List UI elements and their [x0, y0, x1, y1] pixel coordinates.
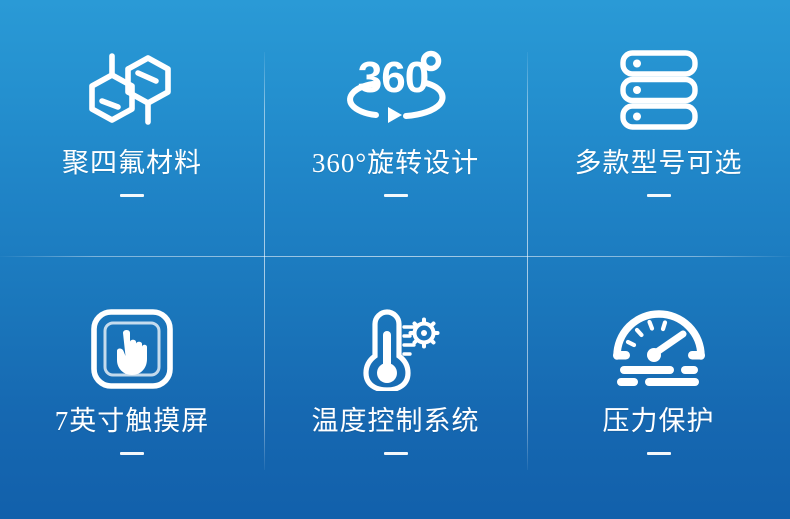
feature-label: 360°旋转设计	[312, 150, 479, 177]
feature-cell-temperature-control[interactable]: 温度控制系统	[264, 256, 527, 519]
360-rotation-icon: 360	[340, 44, 452, 136]
server-rack-icon	[613, 44, 705, 136]
feature-cell-model-options[interactable]: 多款型号可选	[527, 0, 790, 256]
label-underline-dash	[384, 452, 408, 455]
feature-cell-touchscreen[interactable]: 7英寸触摸屏	[0, 256, 264, 519]
label-underline-dash	[120, 194, 144, 197]
feature-label: 温度控制系统	[312, 408, 480, 435]
label-underline-dash	[120, 452, 144, 455]
feature-label: 多款型号可选	[575, 150, 743, 177]
svg-text:360: 360	[357, 53, 427, 102]
feature-label: 7英寸触摸屏	[55, 408, 210, 435]
label-underline-dash	[384, 194, 408, 197]
label-underline-dash	[647, 452, 671, 455]
feature-grid: 聚四氟材料 360 360°旋转设计	[0, 0, 790, 519]
feature-banner: 聚四氟材料 360 360°旋转设计	[0, 0, 790, 519]
feature-cell-ptfe-material[interactable]: 聚四氟材料	[0, 0, 264, 256]
touchscreen-hand-icon	[89, 306, 175, 392]
molecule-hexagons-icon	[80, 44, 184, 136]
feature-cell-pressure-protection[interactable]: 压力保护	[527, 256, 790, 519]
feature-cell-rotation-design[interactable]: 360 360°旋转设计	[264, 0, 527, 256]
pressure-gauge-icon	[609, 306, 709, 392]
thermometer-gear-icon	[350, 306, 442, 392]
label-underline-dash	[647, 194, 671, 197]
feature-label: 聚四氟材料	[62, 150, 202, 177]
feature-label: 压力保护	[603, 408, 715, 435]
